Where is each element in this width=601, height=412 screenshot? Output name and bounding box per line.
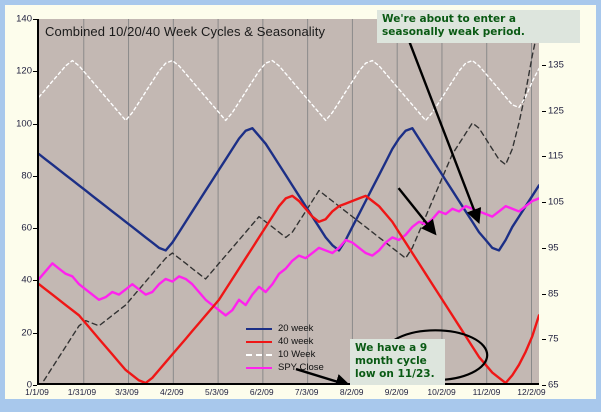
series-line — [39, 198, 539, 315]
left-axis-tickmark — [33, 385, 37, 386]
legend-label: SPY Close — [278, 362, 324, 373]
right-axis-tickmark — [542, 111, 546, 112]
chart-legend: 20 week40 week10 WeekSPY Close — [246, 322, 324, 374]
right-axis-tick-label: 125 — [548, 105, 564, 116]
left-axis-tick-label: 100 — [16, 118, 32, 129]
left-axis-tick-label: 120 — [16, 66, 32, 77]
left-axis-tick-label: 140 — [16, 14, 32, 25]
left-axis-tick-label: 80 — [21, 170, 32, 181]
right-axis-tick-label: 135 — [548, 59, 564, 70]
x-axis-tick-label: 7/3/09 — [295, 387, 319, 397]
x-axis-tick-label: 3/3/09 — [115, 387, 139, 397]
legend-label: 10 Week — [278, 349, 315, 360]
left-axis-tick-label: 60 — [21, 223, 32, 234]
right-axis-tickmark — [542, 65, 546, 66]
left-axis: 020406080100120140 — [5, 5, 32, 399]
cycle-low-callout: We have a 9 month cycle low on 11/23. — [350, 339, 445, 385]
annotation-arrow — [399, 188, 435, 233]
legend-item: SPY Close — [246, 361, 324, 374]
right-axis: 65758595105115125135145 — [542, 5, 596, 399]
legend-item: 10 Week — [246, 348, 324, 361]
legend-swatch — [246, 341, 272, 343]
x-axis: 1/1/091/31/093/3/094/2/095/3/096/2/097/3… — [5, 387, 596, 401]
x-axis-tick-label: 1/1/09 — [25, 387, 49, 397]
legend-label: 40 week — [278, 336, 313, 347]
x-axis-tick-label: 9/2/09 — [385, 387, 409, 397]
right-axis-tickmark — [542, 202, 546, 203]
left-axis-tick-label: 20 — [21, 327, 32, 338]
right-axis-tickmark — [542, 339, 546, 340]
legend-item: 20 week — [246, 322, 324, 335]
right-axis-tick-label: 85 — [548, 288, 559, 299]
x-axis-tick-label: 8/2/09 — [340, 387, 364, 397]
right-axis-tick-label: 115 — [548, 151, 563, 162]
legend-swatch — [246, 367, 272, 369]
right-axis-tickmark — [542, 248, 546, 249]
legend-swatch — [246, 354, 272, 356]
series-line — [39, 128, 539, 250]
left-axis-tick-label: 40 — [21, 275, 32, 286]
right-axis-tick-label: 105 — [548, 197, 564, 208]
x-axis-tick-label: 12/2/09 — [517, 387, 545, 397]
x-axis-tick-label: 11/2/09 — [473, 387, 501, 397]
right-axis-tickmark — [542, 385, 546, 386]
seasonally-weak-callout: We're about to enter a seasonally weak p… — [377, 10, 580, 43]
legend-item: 40 week — [246, 335, 324, 348]
chart-title: Combined 10/20/40 Week Cycles & Seasonal… — [45, 24, 325, 39]
x-axis-tick-label: 1/31/09 — [68, 387, 96, 397]
x-axis-tick-label: 6/2/09 — [250, 387, 274, 397]
legend-label: 20 week — [278, 323, 313, 334]
legend-swatch — [246, 328, 272, 330]
annotation-arrow — [403, 24, 479, 221]
x-axis-tick-label: 5/3/09 — [205, 387, 229, 397]
right-axis-tick-label: 95 — [548, 242, 559, 253]
x-axis-tick-label: 10/2/09 — [427, 387, 455, 397]
chart-canvas: 020406080100120140 657585951051151251351… — [5, 5, 596, 399]
chart-window: 020406080100120140 657585951051151251351… — [0, 0, 601, 412]
x-axis-tick-label: 4/2/09 — [160, 387, 184, 397]
series-line — [39, 61, 539, 121]
right-axis-tickmark — [542, 294, 546, 295]
right-axis-tick-label: 75 — [548, 334, 559, 345]
right-axis-tickmark — [542, 156, 546, 157]
